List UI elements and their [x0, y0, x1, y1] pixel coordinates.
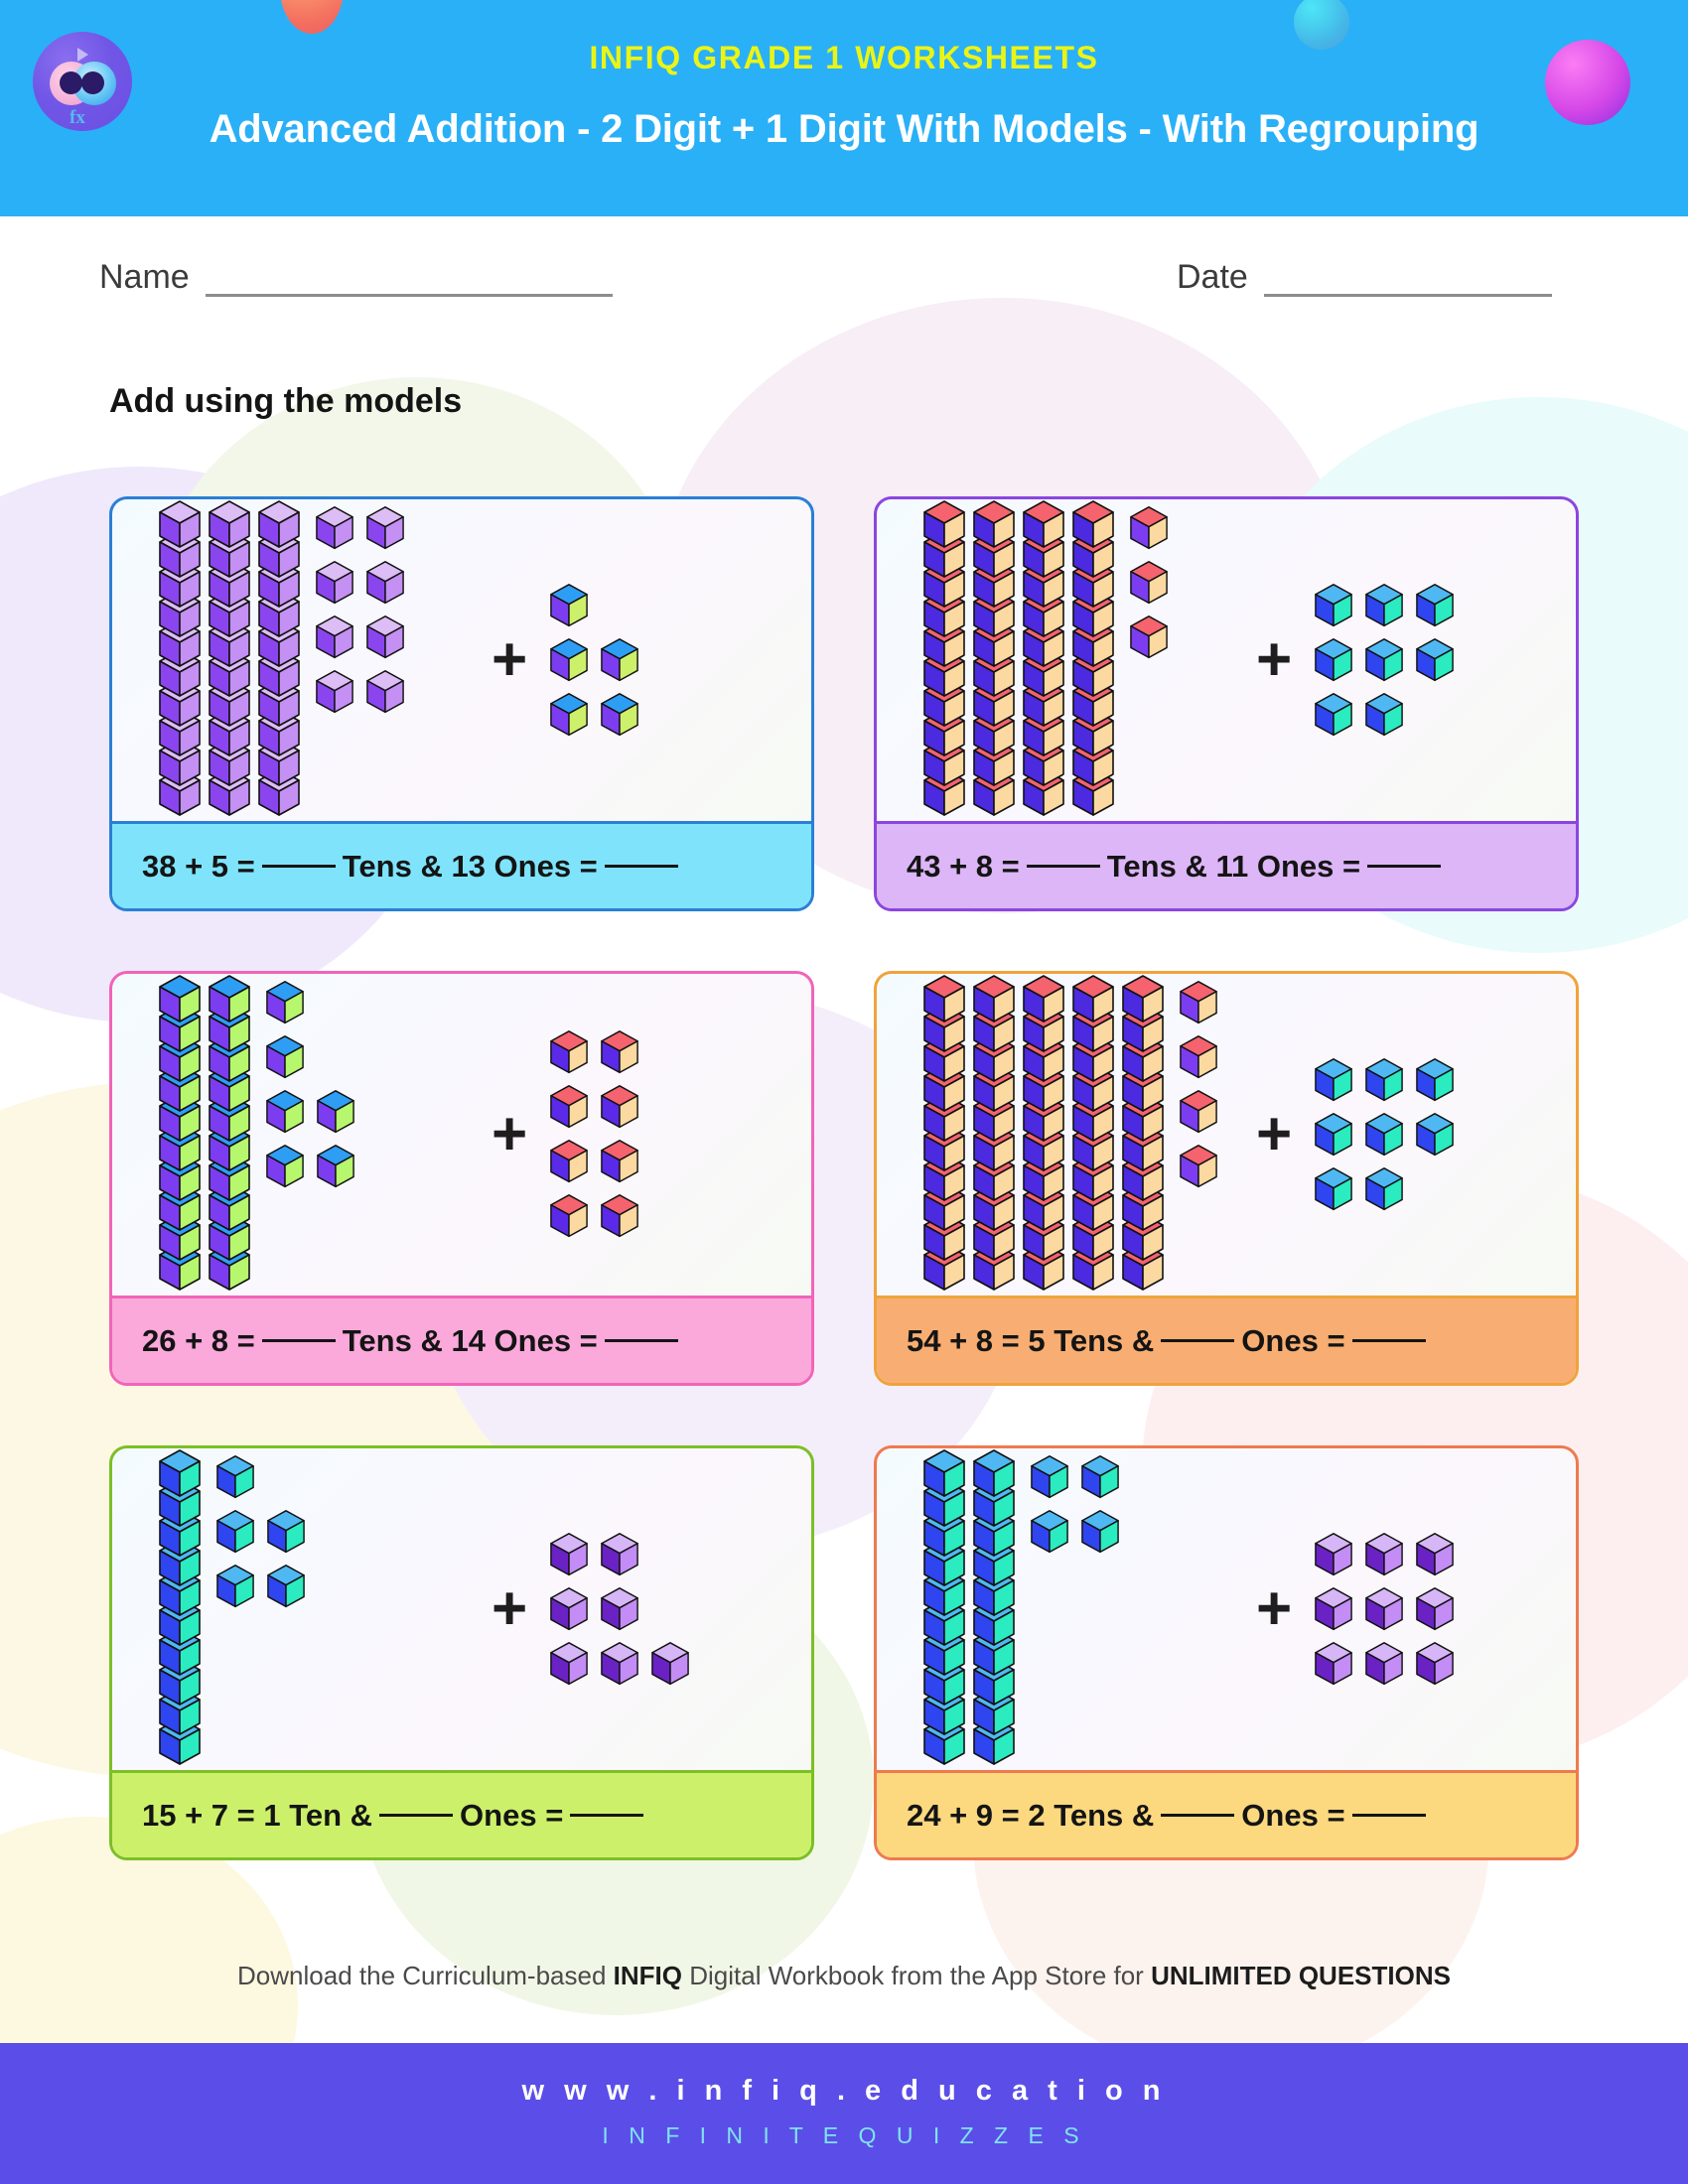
- equation-lead: 54 + 8 = 5 Tens &: [907, 1323, 1154, 1359]
- ones-cube-cluster: [1314, 1532, 1455, 1688]
- ones-cube-cluster: [1129, 505, 1169, 661]
- footer-note-bold: UNLIMITED QUESTIONS: [1151, 1961, 1451, 1990]
- tens-rod: [1121, 974, 1165, 1296]
- model-area: +: [112, 1448, 811, 1770]
- second-addend-model: [549, 583, 639, 739]
- ones-cube-cluster: [1179, 980, 1218, 1190]
- unit-cube-icon: [1129, 505, 1169, 552]
- problem-card: + 38 + 5 = Tens & 13 Ones =: [109, 496, 814, 911]
- unit-cube-icon: [600, 1139, 639, 1185]
- unit-cube-icon: [265, 1089, 305, 1136]
- equation-lead: 15 + 7 = 1 Ten &: [142, 1798, 372, 1834]
- problem-card: + 43 + 8 = Tens & 11 Ones =: [874, 496, 1579, 911]
- unit-cube-icon: [600, 1193, 639, 1240]
- unit-cube-icon: [1022, 974, 1065, 1025]
- equation-mid: Tens & 13 Ones =: [343, 849, 598, 885]
- model-area: +: [112, 499, 811, 821]
- unit-cube-icon: [549, 1532, 589, 1578]
- answer-blank-total[interactable]: [570, 1814, 643, 1817]
- unit-cube-icon: [922, 974, 966, 1025]
- unit-cube-icon: [1364, 1057, 1404, 1104]
- unit-cube-icon: [1364, 1586, 1404, 1633]
- footer-url[interactable]: w w w . i n f i q . e d u c a t i o n: [0, 2075, 1688, 2108]
- unit-cube-icon: [1415, 1057, 1455, 1104]
- unit-cube-icon: [549, 1084, 589, 1131]
- unit-cube-icon: [1364, 1641, 1404, 1688]
- unit-cube-icon: [1071, 974, 1115, 1025]
- unit-cube-icon: [265, 980, 305, 1026]
- first-addend-model: [877, 499, 1234, 821]
- tens-rod: [1022, 974, 1065, 1296]
- unit-cube-icon: [1314, 1057, 1353, 1104]
- equation-lead: 43 + 8 =: [907, 849, 1020, 885]
- problem-card: + 24 + 9 = 2 Te: [874, 1445, 1579, 1860]
- unit-cube-icon: [208, 499, 251, 551]
- unit-cube-icon: [315, 669, 354, 716]
- unit-cube-icon: [1364, 637, 1404, 684]
- answer-blank-total[interactable]: [1367, 865, 1441, 868]
- unit-cube-icon: [600, 1084, 639, 1131]
- unit-cube-icon: [549, 1193, 589, 1240]
- tens-rod: [922, 499, 966, 821]
- date-label: Date: [1177, 258, 1248, 297]
- unit-cube-icon: [1415, 637, 1455, 684]
- unit-cube-icon: [208, 974, 251, 1025]
- unit-cube-icon: [1314, 637, 1353, 684]
- unit-cube-icon: [215, 1564, 255, 1610]
- instruction-text: Add using the models: [109, 382, 462, 421]
- unit-cube-icon: [1415, 1112, 1455, 1159]
- unit-cube-icon: [1030, 1454, 1069, 1501]
- equation-lead: 38 + 5 =: [142, 849, 255, 885]
- unit-cube-icon: [1071, 499, 1115, 551]
- unit-cube-icon: [1129, 560, 1169, 607]
- tens-rod: [972, 1448, 1016, 1770]
- unit-cube-icon: [1314, 1586, 1353, 1633]
- unit-cube-icon: [266, 1564, 306, 1610]
- tens-rod: [208, 974, 251, 1296]
- unit-cube-icon: [158, 974, 202, 1025]
- tens-rods-group: [158, 974, 251, 1296]
- unit-cube-icon: [315, 560, 354, 607]
- name-field-group[interactable]: Name: [99, 258, 613, 297]
- unit-cube-icon: [1179, 980, 1218, 1026]
- answer-blank-tens[interactable]: [379, 1814, 453, 1817]
- first-addend-model: [112, 499, 470, 821]
- unit-cube-icon: [1080, 1454, 1120, 1501]
- answer-blank-total[interactable]: [1352, 1339, 1426, 1342]
- model-area: +: [877, 974, 1576, 1296]
- answer-blank-tens[interactable]: [1027, 865, 1100, 868]
- unit-cube-icon: [1022, 499, 1065, 551]
- model-area: +: [877, 499, 1576, 821]
- problem-card: + 15 + 7 = 1 Ten & Ones =: [109, 1445, 814, 1860]
- model-area: +: [877, 1448, 1576, 1770]
- unit-cube-icon: [549, 1139, 589, 1185]
- second-addend-model: [1314, 583, 1455, 739]
- unit-cube-icon: [600, 1029, 639, 1076]
- plus-icon: +: [492, 629, 527, 691]
- equation-mid: Ones =: [1241, 1798, 1344, 1834]
- footer-note-brand: INFIQ: [614, 1961, 682, 1990]
- ones-cube-cluster: [549, 1532, 690, 1688]
- unit-cube-icon: [1121, 974, 1165, 1025]
- unit-cube-icon: [1364, 583, 1404, 629]
- unit-cube-icon: [600, 1641, 639, 1688]
- tens-rod: [208, 499, 251, 821]
- unit-cube-icon: [158, 499, 202, 551]
- ones-cube-cluster: [1030, 1454, 1120, 1556]
- decorative-circle-orange: [280, 0, 344, 34]
- unit-cube-icon: [316, 1144, 355, 1190]
- unit-cube-icon: [1314, 1641, 1353, 1688]
- unit-cube-icon: [972, 974, 1016, 1025]
- tens-rod: [158, 1448, 202, 1770]
- unit-cube-icon: [158, 1448, 202, 1500]
- worksheet-title: Advanced Addition - 2 Digit + 1 Digit Wi…: [0, 107, 1688, 152]
- tens-rod: [1022, 499, 1065, 821]
- unit-cube-icon: [1415, 1641, 1455, 1688]
- unit-cube-icon: [1415, 1586, 1455, 1633]
- date-field-group[interactable]: Date: [1177, 258, 1552, 297]
- unit-cube-icon: [1364, 1166, 1404, 1213]
- unit-cube-icon: [600, 692, 639, 739]
- name-label: Name: [99, 258, 190, 297]
- unit-cube-icon: [1364, 1532, 1404, 1578]
- date-input-line[interactable]: [1264, 294, 1552, 297]
- answer-bar: 43 + 8 = Tens & 11 Ones =: [877, 821, 1576, 908]
- answer-blank-tens[interactable]: [1161, 1814, 1234, 1817]
- tens-rod: [1071, 974, 1115, 1296]
- unit-cube-icon: [1314, 1166, 1353, 1213]
- answer-bar: 24 + 9 = 2 Tens & Ones =: [877, 1770, 1576, 1857]
- tens-rod: [158, 974, 202, 1296]
- tens-rods-group: [922, 1448, 1016, 1770]
- tens-rods-group: [158, 1448, 202, 1770]
- unit-cube-icon: [1415, 583, 1455, 629]
- unit-cube-icon: [265, 1034, 305, 1081]
- unit-cube-icon: [972, 499, 1016, 551]
- unit-cube-icon: [266, 1509, 306, 1556]
- footer-tagline: I N F I N I T E Q U I Z Z E S: [0, 2122, 1688, 2149]
- page-footer: w w w . i n f i q . e d u c a t i o n I …: [0, 2043, 1688, 2184]
- tens-rod: [922, 1448, 966, 1770]
- answer-blank-total[interactable]: [605, 1339, 678, 1342]
- unit-cube-icon: [365, 669, 405, 716]
- answer-blank-tens[interactable]: [1161, 1339, 1234, 1342]
- tens-rod: [972, 499, 1016, 821]
- second-addend-model: [1314, 1057, 1455, 1213]
- unit-cube-icon: [549, 1586, 589, 1633]
- tens-rods-group: [158, 499, 301, 821]
- unit-cube-icon: [365, 560, 405, 607]
- name-input-line[interactable]: [206, 294, 613, 297]
- unit-cube-icon: [1314, 1112, 1353, 1159]
- tens-rod: [922, 974, 966, 1296]
- ones-cube-cluster: [315, 505, 405, 716]
- first-addend-model: [112, 1448, 470, 1770]
- unit-cube-icon: [1364, 692, 1404, 739]
- first-addend-model: [877, 974, 1234, 1296]
- unit-cube-icon: [1314, 1532, 1353, 1578]
- ones-cube-cluster: [549, 1029, 639, 1240]
- equation-mid: Ones =: [1241, 1323, 1344, 1359]
- unit-cube-icon: [215, 1509, 255, 1556]
- unit-cube-icon: [365, 614, 405, 661]
- tens-rod: [158, 499, 202, 821]
- equation-lead: 24 + 9 = 2 Tens &: [907, 1798, 1154, 1834]
- first-addend-model: [877, 1448, 1234, 1770]
- unit-cube-icon: [549, 692, 589, 739]
- unit-cube-icon: [1314, 583, 1353, 629]
- answer-blank-tens[interactable]: [262, 1339, 336, 1342]
- unit-cube-icon: [1179, 1144, 1218, 1190]
- model-area: +: [112, 974, 811, 1296]
- equation-lead: 26 + 8 =: [142, 1323, 255, 1359]
- unit-cube-icon: [549, 637, 589, 684]
- unit-cube-icon: [265, 1144, 305, 1190]
- unit-cube-icon: [1364, 1112, 1404, 1159]
- equation-mid: Ones =: [460, 1798, 563, 1834]
- problem-grid: + 38 + 5 = Tens & 13 Ones =: [109, 496, 1579, 1860]
- footer-note-pre: Download the Curriculum-based: [237, 1961, 614, 1990]
- problem-card: + 54 + 8 = 5 Tens & Ones =: [874, 971, 1579, 1386]
- unit-cube-icon: [549, 1641, 589, 1688]
- ones-cube-cluster: [215, 1454, 306, 1610]
- unit-cube-icon: [549, 1029, 589, 1076]
- unit-cube-icon: [1129, 614, 1169, 661]
- footer-note-mid: Digital Workbook from the App Store for: [682, 1961, 1151, 1990]
- answer-blank-tens[interactable]: [262, 865, 336, 868]
- tens-rods-group: [922, 499, 1115, 821]
- ones-cube-cluster: [549, 583, 639, 739]
- unit-cube-icon: [1080, 1509, 1120, 1556]
- answer-bar: 38 + 5 = Tens & 13 Ones =: [112, 821, 811, 908]
- unit-cube-icon: [315, 614, 354, 661]
- second-addend-model: [1314, 1532, 1455, 1688]
- page-header: fx INFIQ GRADE 1 WORKSHEETS Advanced Add…: [0, 0, 1688, 216]
- plus-icon: +: [492, 1578, 527, 1640]
- answer-blank-total[interactable]: [1352, 1814, 1426, 1817]
- equation-mid: Tens & 11 Ones =: [1107, 849, 1360, 885]
- worksheet-brand-line: INFIQ GRADE 1 WORKSHEETS: [0, 40, 1688, 76]
- plus-icon: +: [492, 1104, 527, 1165]
- tens-rods-group: [922, 974, 1165, 1296]
- first-addend-model: [112, 974, 470, 1296]
- tens-rod: [972, 974, 1016, 1296]
- ones-cube-cluster: [265, 980, 355, 1190]
- answer-blank-total[interactable]: [605, 865, 678, 868]
- footer-note: Download the Curriculum-based INFIQ Digi…: [0, 1961, 1688, 1991]
- unit-cube-icon: [972, 1448, 1016, 1500]
- second-addend-model: [549, 1532, 690, 1688]
- unit-cube-icon: [1179, 1089, 1218, 1136]
- unit-cube-icon: [600, 1532, 639, 1578]
- unit-cube-icon: [600, 637, 639, 684]
- plus-icon: +: [1256, 1578, 1292, 1640]
- unit-cube-icon: [1179, 1034, 1218, 1081]
- unit-cube-icon: [1030, 1509, 1069, 1556]
- unit-cube-icon: [650, 1641, 690, 1688]
- tens-rod: [1071, 499, 1115, 821]
- unit-cube-icon: [315, 505, 354, 552]
- unit-cube-icon: [922, 499, 966, 551]
- second-addend-model: [549, 1029, 639, 1240]
- unit-cube-icon: [922, 1448, 966, 1500]
- unit-cube-icon: [1314, 692, 1353, 739]
- answer-bar: 26 + 8 = Tens & 14 Ones =: [112, 1296, 811, 1383]
- ones-cube-cluster: [1314, 1057, 1455, 1213]
- tens-rod: [257, 499, 301, 821]
- unit-cube-icon: [215, 1454, 255, 1501]
- unit-cube-icon: [1415, 1532, 1455, 1578]
- unit-cube-icon: [549, 583, 589, 629]
- ones-cube-cluster: [1314, 583, 1455, 739]
- problem-card: + 26 + 8 = Tens & 14 Ones =: [109, 971, 814, 1386]
- unit-cube-icon: [316, 1089, 355, 1136]
- unit-cube-icon: [600, 1586, 639, 1633]
- equation-mid: Tens & 14 Ones =: [343, 1323, 598, 1359]
- unit-cube-icon: [257, 499, 301, 551]
- answer-bar: 15 + 7 = 1 Ten & Ones =: [112, 1770, 811, 1857]
- unit-cube-icon: [365, 505, 405, 552]
- answer-bar: 54 + 8 = 5 Tens & Ones =: [877, 1296, 1576, 1383]
- plus-icon: +: [1256, 629, 1292, 691]
- plus-icon: +: [1256, 1104, 1292, 1165]
